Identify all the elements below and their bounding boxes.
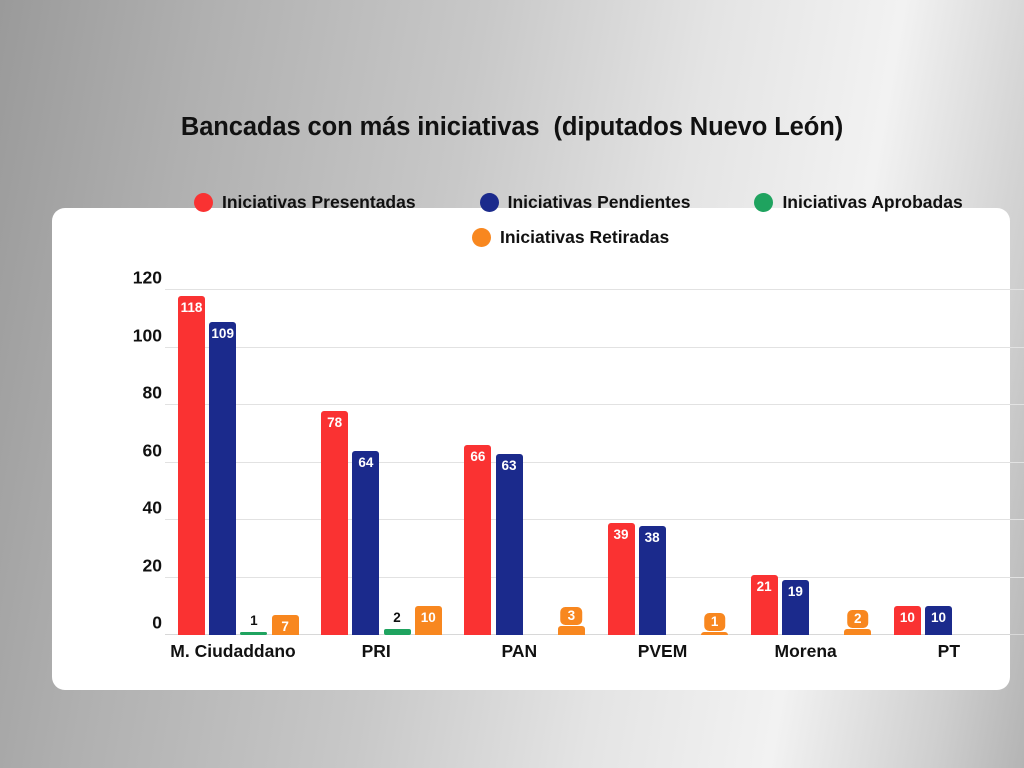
y-tick-label-100: 100 — [133, 325, 162, 346]
y-tick-label-0: 0 — [152, 613, 162, 634]
legend-label-presentadas: Iniciativas Presentadas — [222, 192, 416, 213]
legend-label-pendientes: Iniciativas Pendientes — [508, 192, 691, 213]
x-tick-label: PVEM — [638, 641, 688, 662]
legend-dot-pendientes — [480, 193, 499, 212]
chart-legend: Iniciativas Presentadas Iniciativas Pend… — [52, 192, 1024, 248]
y-tick-label-80: 80 — [143, 383, 162, 404]
legend-dot-retiradas — [472, 228, 491, 247]
legend-label-retiradas: Iniciativas Retiradas — [500, 227, 669, 248]
x-tick-label: PAN — [502, 641, 538, 662]
legend-row-2: Iniciativas Retiradas — [52, 227, 1024, 248]
legend-item-pendientes[interactable]: Iniciativas Pendientes — [480, 192, 691, 213]
x-tick-label: Morena — [775, 641, 837, 662]
legend-dot-aprobadas — [754, 193, 773, 212]
x-tick-label: M. Ciudaddano — [170, 641, 295, 662]
y-axis: 020406080100120 — [118, 290, 162, 635]
x-axis: M. CiudaddanoPRIPANPVEMMorenaPT — [165, 641, 1024, 667]
y-tick-label-60: 60 — [143, 440, 162, 461]
y-tick-label-20: 20 — [143, 555, 162, 576]
y-tick-label-40: 40 — [143, 498, 162, 519]
x-tick-label: PRI — [362, 641, 391, 662]
chart-card — [52, 208, 1010, 690]
legend-item-aprobadas[interactable]: Iniciativas Aprobadas — [754, 192, 962, 213]
legend-label-aprobadas: Iniciativas Aprobadas — [782, 192, 962, 213]
legend-dot-presentadas — [194, 193, 213, 212]
x-tick-label: PT — [938, 641, 960, 662]
y-tick-label-120: 120 — [133, 268, 162, 289]
legend-item-retiradas[interactable]: Iniciativas Retiradas — [472, 227, 669, 248]
page-title: Bancadas con más iniciativas (diputados … — [0, 113, 1024, 142]
legend-item-presentadas[interactable]: Iniciativas Presentadas — [194, 192, 416, 213]
legend-row-1: Iniciativas Presentadas Iniciativas Pend… — [52, 192, 1024, 213]
